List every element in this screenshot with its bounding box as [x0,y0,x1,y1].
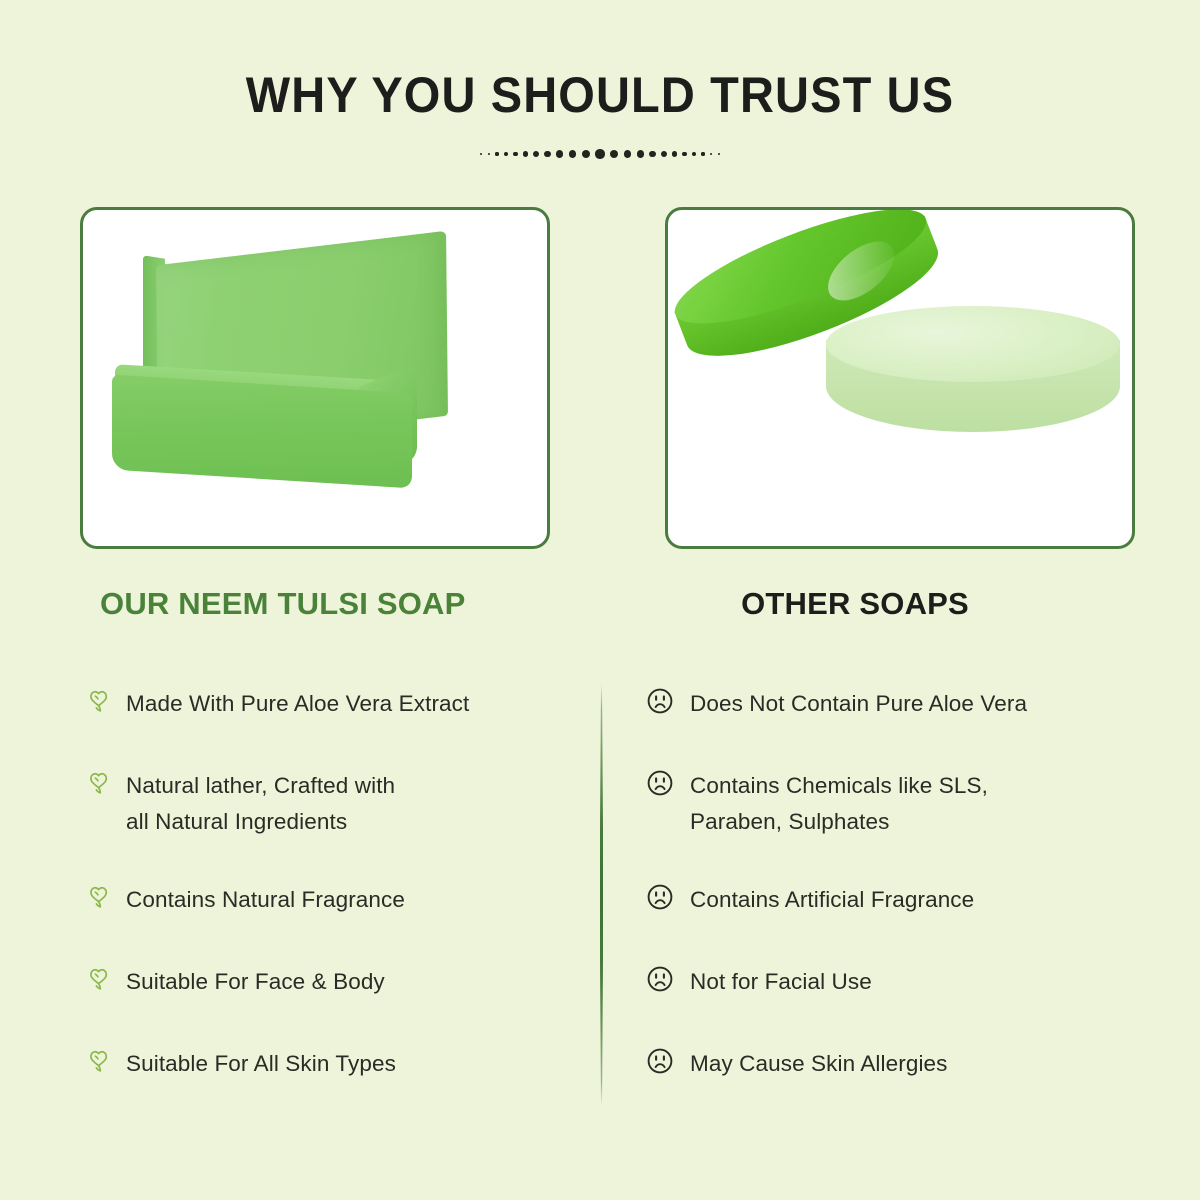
drawback-item: May Cause Skin Allergies [646,1046,948,1082]
our-soap-image-card [80,207,550,549]
drawback-item: Not for Facial Use [646,964,872,1000]
benefit-item: Contains Natural Fragrance [84,882,405,918]
benefit-item-label: Suitable For Face & Body [126,964,385,1000]
benefit-item: Suitable For Face & Body [84,964,385,1000]
benefit-item: Natural lather, Crafted with all Natural… [84,768,395,840]
other-soap-image-card [665,207,1135,549]
image-cards [0,207,1200,549]
sad-face-icon [646,769,674,797]
drawback-item-label: May Cause Skin Allergies [690,1046,948,1082]
drawback-item-label: Contains Chemicals like SLS, Paraben, Su… [690,768,988,840]
green-soap-bars-image [83,210,547,546]
drawback-item-label: Not for Facial Use [690,964,872,1000]
drawback-item-label: Contains Artificial Fragrance [690,882,974,918]
page-title: WHY YOU SHOULD TRUST US [36,66,1164,124]
our-soap-heading: OUR NEEM TULSI SOAP [100,586,466,622]
dotted-divider-icon [0,146,1200,162]
leaf-icon [84,769,112,797]
sad-face-icon [646,965,674,993]
round-soap-bars-image [668,210,1132,546]
column-divider [600,683,603,1107]
other-soaps-heading: OTHER SOAPS [665,586,1045,622]
benefit-item: Made With Pure Aloe Vera Extract [84,686,469,722]
leaf-icon [84,687,112,715]
benefit-item: Suitable For All Skin Types [84,1046,396,1082]
drawback-item: Does Not Contain Pure Aloe Vera [646,686,1027,722]
benefit-item-label: Made With Pure Aloe Vera Extract [126,686,469,722]
column-headings: OUR NEEM TULSI SOAP OTHER SOAPS [0,586,1200,634]
drawback-item: Contains Chemicals like SLS, Paraben, Su… [646,768,988,840]
header: WHY YOU SHOULD TRUST US [0,0,1200,162]
drawback-item-label: Does Not Contain Pure Aloe Vera [690,686,1027,722]
sad-face-icon [646,687,674,715]
drawback-item: Contains Artificial Fragrance [646,882,974,918]
sad-face-icon [646,883,674,911]
benefit-item-label: Contains Natural Fragrance [126,882,405,918]
leaf-icon [84,883,112,911]
benefit-item-label: Natural lather, Crafted with all Natural… [126,768,395,840]
leaf-icon [84,965,112,993]
leaf-icon [84,1047,112,1075]
infographic-page: WHY YOU SHOULD TRUST US [0,0,1200,1200]
sad-face-icon [646,1047,674,1075]
benefit-item-label: Suitable For All Skin Types [126,1046,396,1082]
